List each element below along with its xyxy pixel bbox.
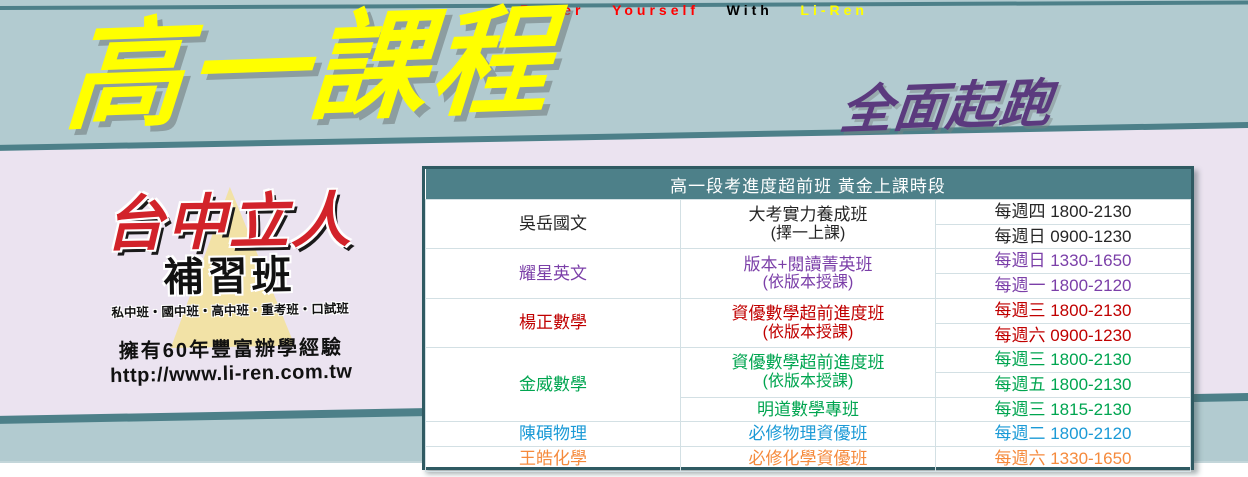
teacher-name-cell: 吳岳國文 bbox=[426, 200, 681, 249]
class-time-cell: 每週二 1800-2120 bbox=[936, 422, 1191, 447]
logo-class-list: 私中班・國中班・高中班・重考班・口試班 bbox=[60, 297, 400, 322]
table-row: 吳岳國文大考實力養成班(擇一上課)每週四 1800-2130 bbox=[426, 200, 1191, 225]
course-name-cell: 必修物理資優班 bbox=[681, 422, 936, 447]
teacher-name-cell: 楊正數學 bbox=[426, 298, 681, 347]
course-name-cell: 資優數學超前進度班(依版本授課) bbox=[681, 348, 936, 397]
course-name-cell: 明道數學專班 bbox=[681, 397, 936, 422]
schedule-header-row: 高一段考進度超前班 黃金上課時段 bbox=[426, 169, 1191, 200]
schedule-table-head: 高一段考進度超前班 黃金上課時段 bbox=[426, 169, 1191, 200]
schedule-table-body: 吳岳國文大考實力養成班(擇一上課)每週四 1800-2130每週日 0900-1… bbox=[426, 200, 1191, 472]
tagline-yourself: Yourself bbox=[612, 2, 699, 18]
poster-canvas: Better Yourself With Li-Ren 高一課程 全面起跑 台中… bbox=[0, 0, 1248, 477]
table-row: 金威數學資優數學超前進度班(依版本授課)每週三 1800-2130 bbox=[426, 348, 1191, 373]
page-title: 高一課程 bbox=[61, 0, 558, 142]
table-row: 楊正數學資優數學超前進度班(依版本授課)每週三 1800-2130 bbox=[426, 298, 1191, 323]
class-time-cell: 每週三 1800-2130 bbox=[936, 298, 1191, 323]
schedule-table: 高一段考進度超前班 黃金上課時段 吳岳國文大考實力養成班(擇一上課)每週四 18… bbox=[425, 169, 1191, 472]
class-time-cell: 每週三 1800-2130 bbox=[936, 348, 1191, 373]
schedule-header-title: 高一段考進度超前班 黃金上課時段 bbox=[426, 169, 1191, 200]
tagline-liren: Li-Ren bbox=[800, 2, 868, 18]
course-name-cell: 大考實力養成班(擇一上課) bbox=[681, 200, 936, 249]
class-time-cell: 每週六 1330-1650 bbox=[936, 447, 1191, 472]
teacher-name-cell: 陳碩物理 bbox=[426, 422, 681, 447]
class-time-cell: 每週五 1800-2130 bbox=[936, 373, 1191, 398]
class-time-cell: 每週四 1800-2130 bbox=[936, 200, 1191, 225]
course-note: (依版本授課) bbox=[681, 373, 935, 392]
logo-name-primary: 台中立人 bbox=[58, 190, 399, 256]
page-subtitle: 全面起跑 bbox=[837, 61, 1057, 144]
teacher-name-cell: 金威數學 bbox=[426, 348, 681, 422]
teacher-name-cell: 耀星英文 bbox=[426, 249, 681, 298]
tagline-with: With bbox=[727, 2, 773, 18]
class-time-cell: 每週一 1800-2120 bbox=[936, 274, 1191, 299]
course-note: (依版本授課) bbox=[681, 324, 935, 343]
schedule-table-panel: 高一段考進度超前班 黃金上課時段 吳岳國文大考實力養成班(擇一上課)每週四 18… bbox=[422, 166, 1194, 470]
course-name-cell: 必修化學資優班 bbox=[681, 447, 936, 472]
teacher-name-cell: 王皓化學 bbox=[426, 447, 681, 472]
table-row: 陳碩物理必修物理資優班每週二 1800-2120 bbox=[426, 422, 1191, 447]
course-name-cell: 資優數學超前進度班(依版本授課) bbox=[681, 298, 936, 347]
class-time-cell: 每週日 1330-1650 bbox=[936, 249, 1191, 274]
logo: 台中立人 補習班 私中班・國中班・高中班・重考班・口試班 擁有60年豐富辦學經驗… bbox=[58, 190, 401, 389]
course-note: (擇一上課) bbox=[681, 225, 935, 244]
table-row: 王皓化學必修化學資優班每週六 1330-1650 bbox=[426, 447, 1191, 472]
logo-name-secondary: 補習班 bbox=[59, 254, 400, 300]
course-name-cell: 版本+閱讀菁英班(依版本授課) bbox=[681, 249, 936, 298]
class-time-cell: 每週日 0900-1230 bbox=[936, 224, 1191, 249]
course-note: (依版本授課) bbox=[681, 274, 935, 293]
class-time-cell: 每週六 0900-1230 bbox=[936, 323, 1191, 348]
class-time-cell: 每週三 1815-2130 bbox=[936, 397, 1191, 422]
table-row: 耀星英文版本+閱讀菁英班(依版本授課)每週日 1330-1650 bbox=[426, 249, 1191, 274]
